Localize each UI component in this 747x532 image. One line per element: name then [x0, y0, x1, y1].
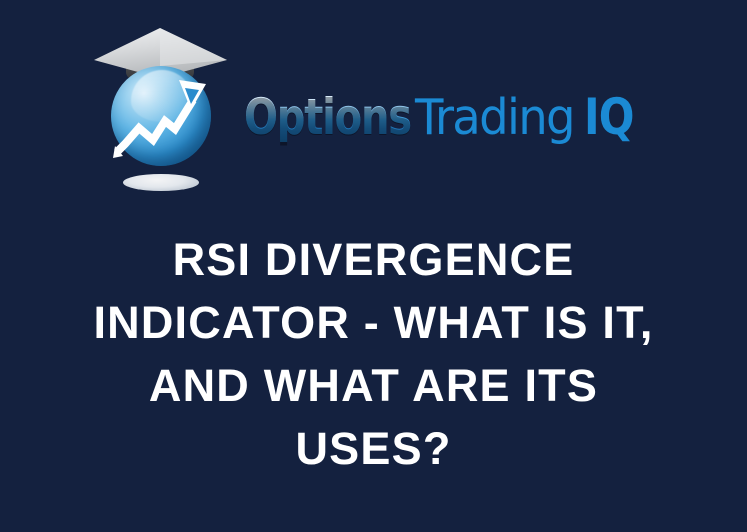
logo-word-trading: Trading	[415, 93, 574, 142]
page-title-line-3: AND WHAT ARE ITS	[18, 354, 729, 417]
logo-shadow-ellipse	[123, 174, 199, 191]
page-title-line-4: USES?	[18, 417, 729, 480]
hero-banner: Options Trading IQ RSI DIVERGENCE INDICA…	[0, 0, 747, 532]
globe-icon	[111, 66, 211, 166]
site-logo[interactable]: Options Trading IQ	[0, 0, 747, 210]
logo-word-options: Options	[244, 92, 411, 142]
logo-mark	[93, 22, 228, 207]
page-title-line-1: RSI DIVERGENCE	[18, 228, 729, 291]
page-title-line-2: INDICATOR - WHAT IS IT,	[18, 291, 729, 354]
logo-word-iq: IQ	[584, 92, 634, 142]
chart-arrow-icon	[111, 66, 211, 166]
page-title: RSI DIVERGENCE INDICATOR - WHAT IS IT, A…	[0, 228, 747, 480]
logo-wordmark[interactable]: Options Trading IQ	[244, 92, 643, 154]
